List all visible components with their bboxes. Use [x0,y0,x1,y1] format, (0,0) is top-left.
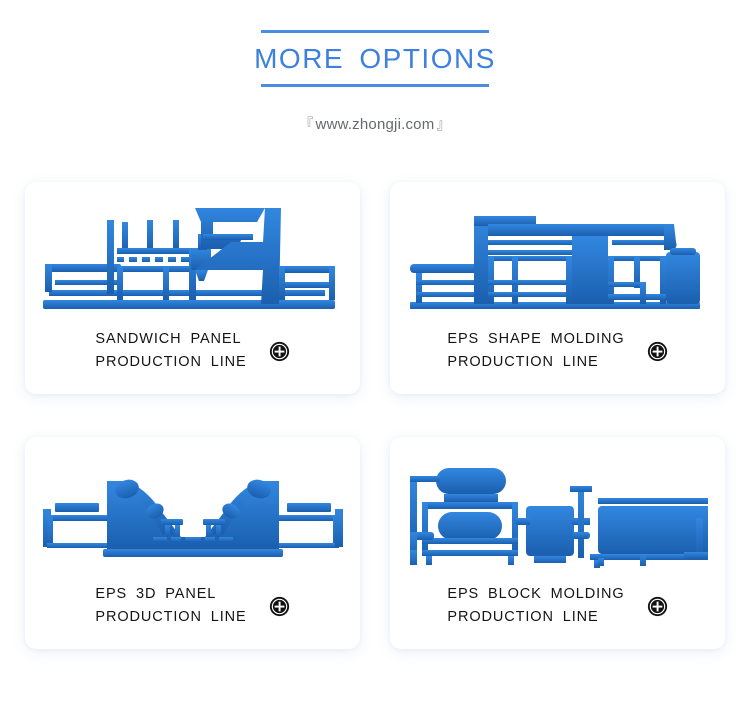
card-label-line2: PRODUCTION LINE [447,354,598,370]
close-bracket-glyph: 』 [434,116,452,132]
card-label-line1: EPS SHAPE MOLDING [447,331,624,347]
page-title: MORE OPTIONS [254,42,496,76]
title-rule-bottom [261,84,489,87]
card-label-line1: SANDWICH PANEL [95,331,241,347]
card-footer: SANDWICH PANELPRODUCTION LINE [25,328,360,374]
option-card-eps-shape-molding[interactable]: EPS SHAPE MOLDINGPRODUCTION LINE [390,182,725,394]
eps-shape-molding-machine-illustration [390,196,725,324]
plus-circle-icon[interactable] [269,341,290,362]
card-footer: EPS SHAPE MOLDINGPRODUCTION LINE [390,328,725,374]
card-label-line1: EPS BLOCK MOLDING [447,586,624,602]
eps-block-molding-machine-illustration [390,451,725,579]
option-card-sandwich-panel[interactable]: SANDWICH PANELPRODUCTION LINE [25,182,360,394]
option-card-eps-block-molding[interactable]: EPS BLOCK MOLDINGPRODUCTION LINE [390,437,725,649]
card-label: EPS BLOCK MOLDINGPRODUCTION LINE [447,583,624,629]
card-label-line2: PRODUCTION LINE [95,354,246,370]
card-label: EPS 3D PANELPRODUCTION LINE [95,583,246,629]
title-rule-top [261,30,489,33]
card-label-line1: EPS 3D PANEL [95,586,216,602]
plus-circle-icon[interactable] [647,341,668,362]
website-url-text: www.zhongji.com [316,116,435,133]
card-label-line2: PRODUCTION LINE [95,609,246,625]
plus-circle-icon[interactable] [647,596,668,617]
card-label: EPS SHAPE MOLDINGPRODUCTION LINE [447,328,624,374]
open-bracket-glyph: 『 [297,116,315,132]
card-footer: EPS BLOCK MOLDINGPRODUCTION LINE [390,583,725,629]
card-label-line2: PRODUCTION LINE [447,609,598,625]
card-footer: EPS 3D PANELPRODUCTION LINE [25,583,360,629]
sandwich-panel-machine-illustration [25,196,360,324]
eps-3d-panel-machine-illustration [25,451,360,579]
plus-circle-icon[interactable] [269,596,290,617]
card-label: SANDWICH PANELPRODUCTION LINE [95,328,246,374]
options-grid: SANDWICH PANELPRODUCTION LINE [25,182,725,649]
option-card-eps-3d-panel[interactable]: EPS 3D PANELPRODUCTION LINE [25,437,360,649]
page-header: MORE OPTIONS 『www.zhongji.com』 [0,0,750,134]
title-block: MORE OPTIONS [250,30,500,87]
website-url: 『www.zhongji.com』 [0,114,750,134]
